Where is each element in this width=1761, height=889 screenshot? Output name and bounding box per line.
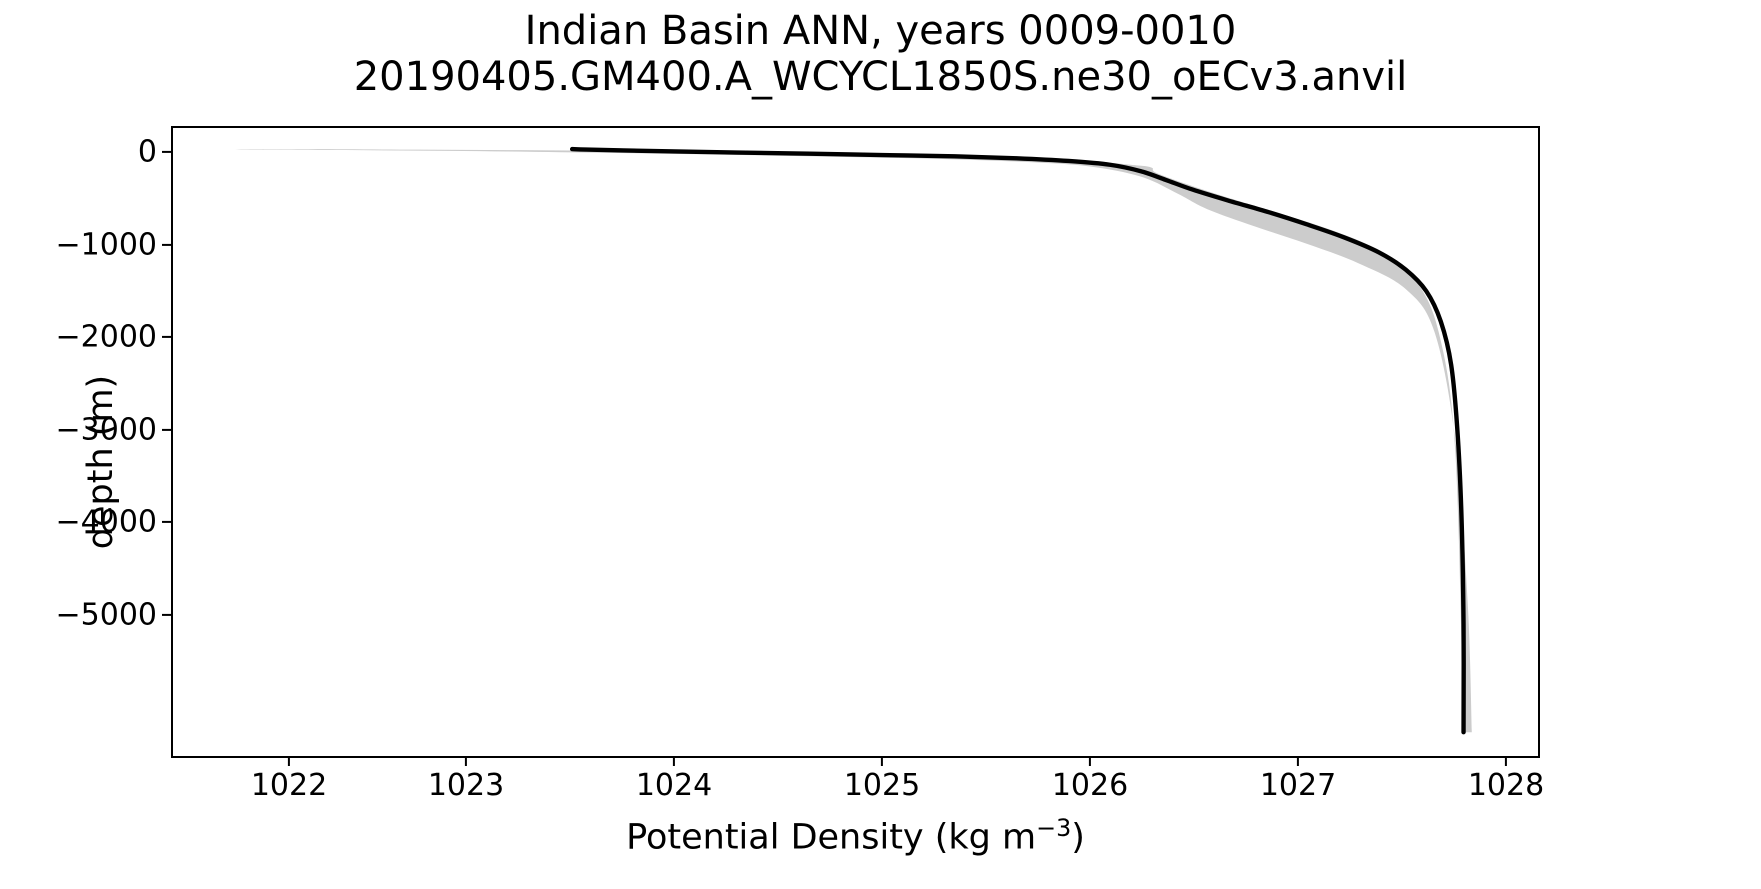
x-tick-label-1023: 1023	[428, 768, 504, 803]
x-axis-title-tail: )	[1071, 817, 1085, 857]
profile-plot	[173, 128, 1538, 756]
x-tick-label-1028: 1028	[1468, 768, 1544, 803]
x-tick-mark-1023	[465, 757, 467, 766]
y-axis-tick-labels: 0 −1000 −2000 −3000 −4000 −5000	[0, 0, 157, 889]
chart-title-line-2: 20190405.GM400.A_WCYCL1850S.ne30_oECv3.a…	[0, 54, 1761, 100]
x-tick-mark-1025	[881, 757, 883, 766]
y-tick-mark-1000	[162, 244, 171, 246]
x-tick-mark-1026	[1089, 757, 1091, 766]
y-tick-label-0: 0	[138, 135, 157, 170]
y-tick-mark-2000	[162, 336, 171, 338]
x-tick-label-1026: 1026	[1052, 768, 1128, 803]
x-tick-label-1024: 1024	[636, 768, 712, 803]
x-tick-label-1027: 1027	[1260, 768, 1336, 803]
y-tick-mark-4000	[162, 521, 171, 523]
figure-canvas: Indian Basin ANN, years 0009-0010 201904…	[0, 0, 1761, 889]
x-tick-label-1025: 1025	[844, 768, 920, 803]
plot-area	[171, 126, 1540, 758]
x-tick-label-1022: 1022	[251, 768, 327, 803]
x-axis-title-main: Potential Density (kg m	[626, 817, 1036, 857]
x-axis-title-exponent: −3	[1036, 814, 1071, 842]
x-tick-mark-1027	[1297, 757, 1299, 766]
y-tick-mark-5000	[162, 614, 171, 616]
x-axis-title: Potential Density (kg m−3)	[171, 814, 1540, 857]
chart-title: Indian Basin ANN, years 0009-0010 201904…	[0, 8, 1761, 101]
y-axis-title: depth (m)	[81, 146, 121, 778]
y-tick-mark-0	[162, 151, 171, 153]
x-tick-mark-1028	[1505, 757, 1507, 766]
x-tick-mark-1024	[673, 757, 675, 766]
chart-title-line-1: Indian Basin ANN, years 0009-0010	[0, 8, 1761, 54]
x-tick-mark-1022	[288, 757, 290, 766]
y-tick-mark-3000	[162, 429, 171, 431]
uncertainty-band	[235, 149, 1472, 732]
